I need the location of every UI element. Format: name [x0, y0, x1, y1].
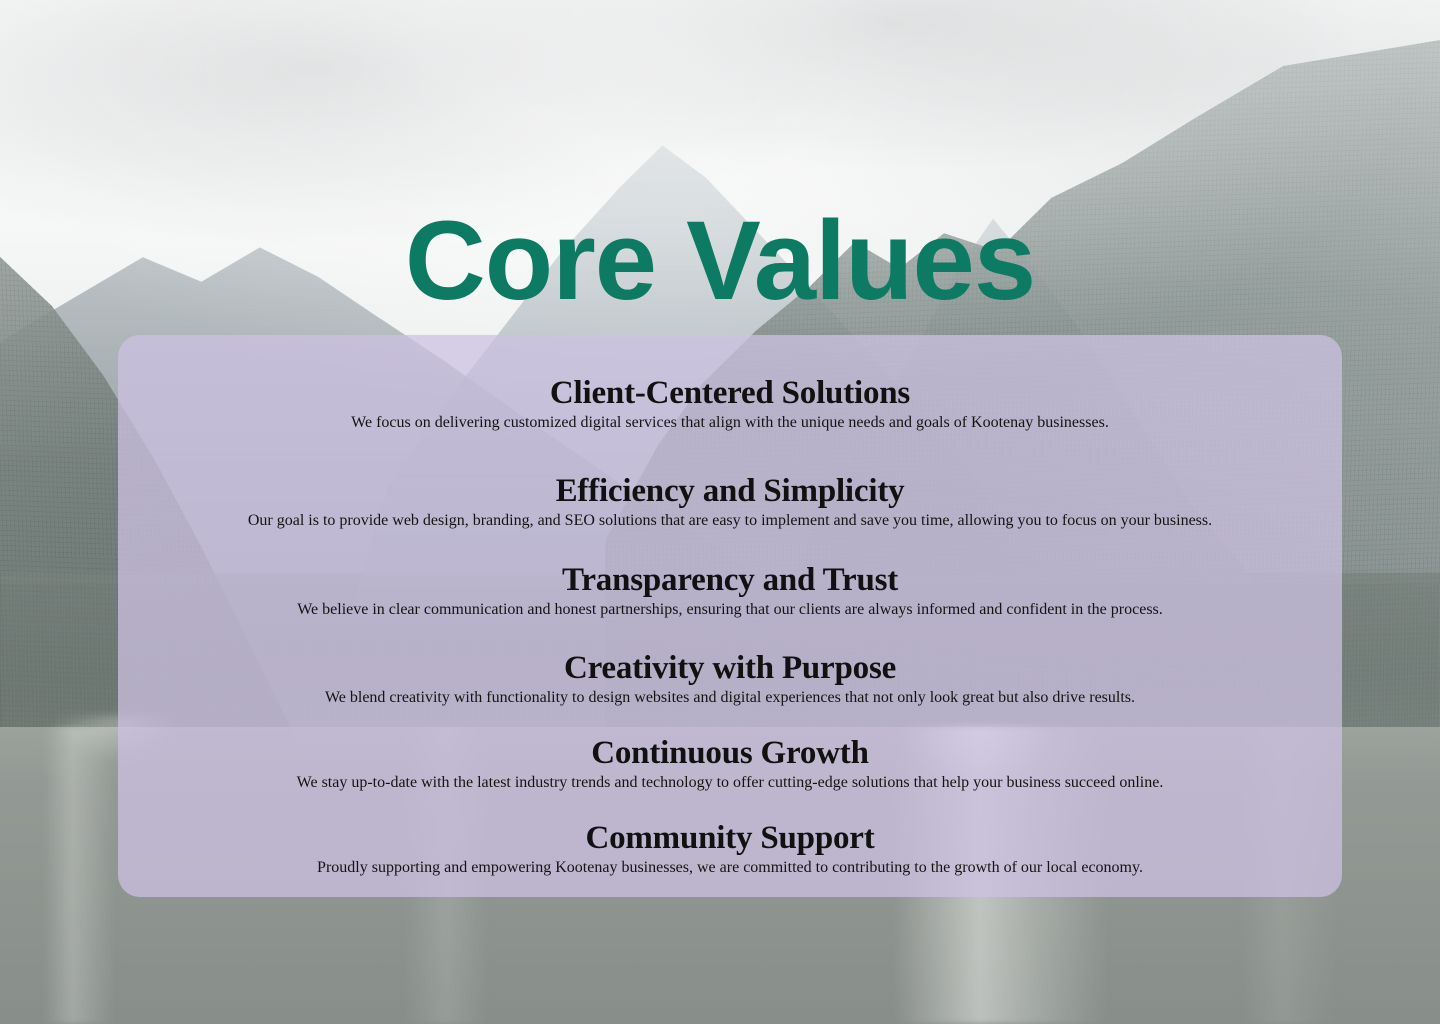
value-item-efficiency-and-simplicity: Efficiency and Simplicity Our goal is to…	[158, 473, 1302, 531]
value-title: Efficiency and Simplicity	[158, 473, 1302, 510]
value-item-transparency-and-trust: Transparency and Trust We believe in cle…	[158, 562, 1302, 620]
value-description: We blend creativity with functionality t…	[158, 688, 1302, 708]
value-title: Community Support	[158, 820, 1302, 857]
value-title: Creativity with Purpose	[158, 650, 1302, 687]
value-description: We focus on delivering customized digita…	[158, 413, 1302, 433]
value-description: Our goal is to provide web design, brand…	[158, 511, 1302, 531]
page-title: Core Values	[0, 205, 1440, 317]
page-stage: Core Values Client-Centered Solutions We…	[0, 0, 1440, 1024]
value-item-community-support: Community Support Proudly supporting and…	[158, 820, 1302, 878]
value-item-client-centered-solutions: Client-Centered Solutions We focus on de…	[158, 375, 1302, 433]
value-description: Proudly supporting and empowering Kooten…	[158, 858, 1302, 878]
value-description: We stay up-to-date with the latest indus…	[158, 773, 1302, 793]
value-item-continuous-growth: Continuous Growth We stay up-to-date wit…	[158, 735, 1302, 793]
value-title: Client-Centered Solutions	[158, 375, 1302, 412]
value-item-creativity-with-purpose: Creativity with Purpose We blend creativ…	[158, 650, 1302, 708]
core-values-card: Client-Centered Solutions We focus on de…	[118, 335, 1342, 897]
value-title: Transparency and Trust	[158, 562, 1302, 599]
value-description: We believe in clear communication and ho…	[158, 600, 1302, 620]
value-title: Continuous Growth	[158, 735, 1302, 772]
